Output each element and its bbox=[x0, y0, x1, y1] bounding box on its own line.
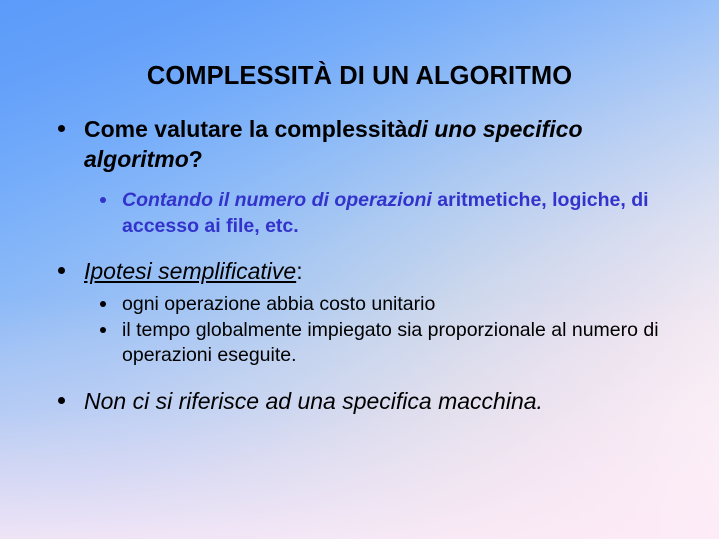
slide-body-list: Come valutare la complessitàdi uno speci… bbox=[0, 114, 719, 416]
bullet-level1-non-ci-si-riferisce: Non ci si riferisce ad una specifica mac… bbox=[0, 386, 719, 416]
bullet-text-segment-italic: Contando il numero di operazioni bbox=[122, 189, 432, 211]
spacer bbox=[0, 174, 719, 188]
bullet-level2-costo-unitario: ogni operazione abbia costo unitario bbox=[0, 292, 719, 318]
bullet-text-segment-italic-underlined: Ipotesi semplificative bbox=[84, 258, 296, 284]
bullet-dot-icon bbox=[100, 301, 106, 307]
bullet-level2-tempo-proporzionale: il tempo globalmente impiegato sia propo… bbox=[0, 318, 719, 369]
bullet-level1-come-valutare: Come valutare la complessitàdi uno speci… bbox=[0, 114, 719, 174]
bullet-dot-icon bbox=[58, 267, 65, 274]
spacer bbox=[0, 369, 719, 386]
slide-canvas: COMPLESSITÀ DI UN ALGORITMO Come valutar… bbox=[0, 0, 719, 539]
bullet-text: il tempo globalmente impiegato sia propo… bbox=[122, 319, 659, 367]
bullet-text-segment-question: ? bbox=[189, 146, 203, 172]
bullet-text-segment-bold: Come valutare la complessità bbox=[84, 116, 407, 142]
bullet-dot-icon bbox=[100, 197, 106, 203]
slide-content: COMPLESSITÀ DI UN ALGORITMO Come valutar… bbox=[0, 0, 719, 539]
bullet-dot-icon bbox=[58, 125, 65, 132]
bullet-text: Non ci si riferisce ad una specifica mac… bbox=[84, 388, 543, 414]
bullet-level1-ipotesi-semplificative: Ipotesi semplificative: bbox=[0, 256, 719, 286]
bullet-level2-contando: Contando il numero di operazioni aritmet… bbox=[0, 188, 719, 239]
bullet-dot-icon bbox=[58, 397, 65, 404]
spacer bbox=[0, 239, 719, 256]
bullet-text-segment-colon: : bbox=[296, 258, 302, 284]
bullet-text: ogni operazione abbia costo unitario bbox=[122, 293, 435, 315]
slide-title: COMPLESSITÀ DI UN ALGORITMO bbox=[0, 62, 719, 91]
bullet-dot-icon bbox=[100, 327, 106, 333]
